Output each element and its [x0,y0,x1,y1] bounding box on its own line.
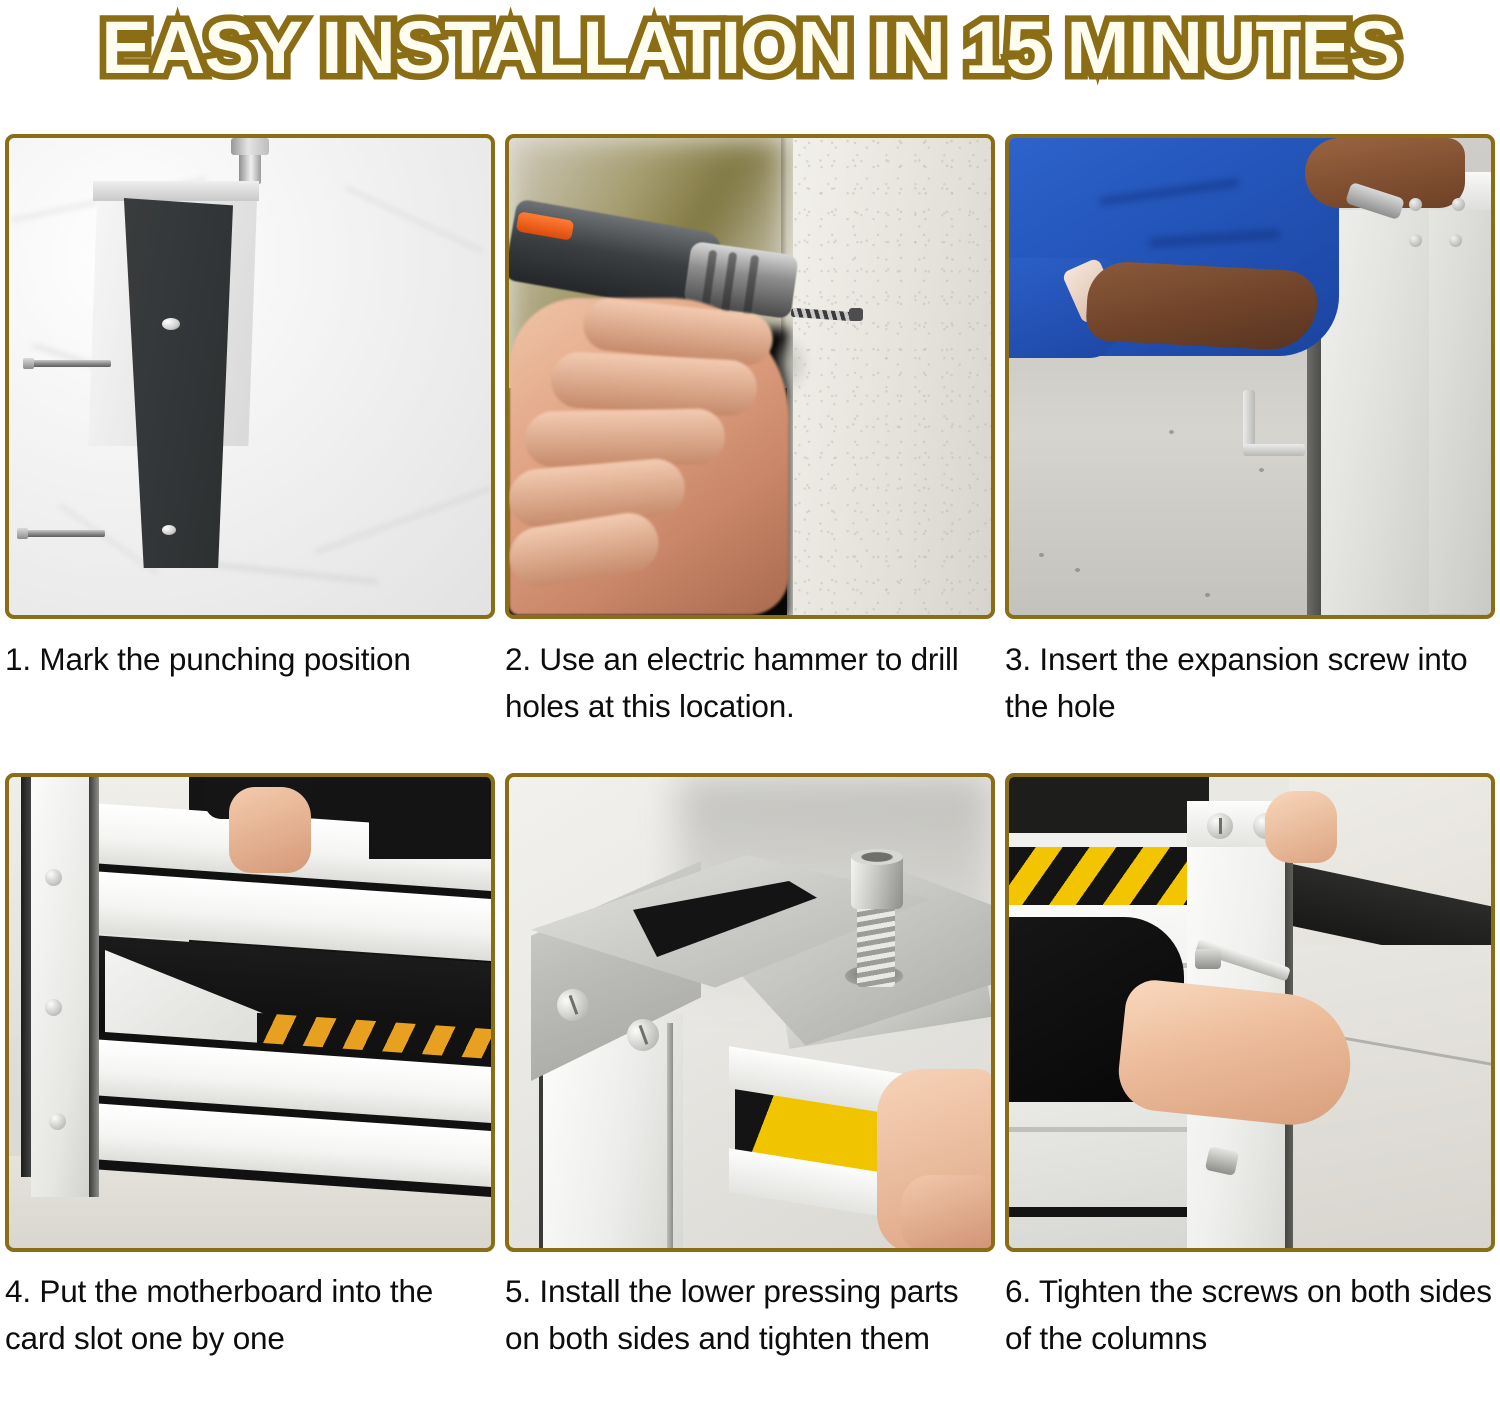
slotted-column [31,777,89,1197]
white-plate-top-edge [93,181,259,201]
step-6-caption: 6. Tighten the screws on both sides of t… [1005,1268,1495,1362]
finger [550,351,759,418]
step-1-photo [5,134,495,619]
cloth-fold [345,186,482,252]
column-screw [1409,198,1422,211]
step-2-caption: 2. Use an electric hammer to drill holes… [505,636,995,730]
column-screw [49,1113,66,1130]
step-5-caption: 5. Install the lower pressing parts on b… [505,1268,995,1362]
floor-speck [1205,593,1210,597]
step-4-caption: 4. Put the motherboard into the card slo… [5,1268,495,1362]
hazard-stripe-band [1009,847,1191,905]
step-card-5: 5. Install the lower pressing parts on b… [505,773,995,1362]
screwdriver-tip [1195,949,1221,969]
column-inner-edge [89,777,99,1197]
step-card-6: 6. Tighten the screws on both sides of t… [1005,773,1495,1362]
worker-forearm [1085,260,1319,352]
column-screw [1409,234,1422,247]
locating-pin-cap-lower [17,528,28,539]
threaded-bolt-shaft [857,897,895,987]
column-side-line [667,1023,673,1252]
step-card-1: 1. Mark the punching position [5,134,495,683]
steps-row-2: 4. Put the motherboard into the card slo… [0,773,1500,1293]
step-card-2: 2. Use an electric hammer to drill holes… [505,134,995,730]
page-title: EASY INSTALLATION IN 15 MINUTES [101,8,1399,88]
drill-bit-tip [849,308,863,321]
dark-clothing [369,777,491,859]
panel-seam [1009,1127,1191,1132]
step-card-3: 3. Insert the expansion screw into the h… [1005,134,1495,730]
floor-speck [1169,430,1174,434]
step-card-4: 4. Put the motherboard into the card slo… [5,773,495,1362]
step-1-caption: 1. Mark the punching position [5,636,495,683]
step-3-caption: 3. Insert the expansion screw into the h… [1005,636,1495,730]
installation-steps-grid: 1. Mark the punching position [0,96,1500,1403]
top-bolt-head [231,138,269,155]
locating-pin-lower [19,530,105,537]
dark-upper-background [1009,777,1209,837]
step-6-photo [1005,773,1495,1252]
step-4-photo [5,773,495,1252]
steps-row-1: 1. Mark the punching position [0,134,1500,654]
step-3-photo [1005,134,1495,619]
floor-speck [1259,468,1264,472]
step-5-photo [505,773,995,1252]
column-screw [1207,813,1233,839]
installer-hand [229,787,311,873]
column-screw [1449,234,1462,247]
finger [525,408,726,467]
step-2-photo [505,134,995,619]
column-screw [45,999,62,1016]
column-screw [1452,198,1465,211]
marking-hole-lower [162,525,176,535]
cloth-fold [314,486,494,555]
locating-pin-upper [25,360,111,367]
white-column-side [1429,184,1491,614]
column-screw [45,869,62,886]
second-hand [1265,791,1337,863]
bolt-socket-top [851,849,903,865]
page-header: EASY INSTALLATION IN 15 MINUTES [0,0,1500,96]
allen-wrench-arm [1243,444,1305,456]
marking-hole-upper [162,318,180,330]
textured-wall [793,138,991,615]
panel-bottom-seam [1009,1207,1191,1217]
locating-pin-cap-upper [23,358,34,369]
floor-speck [1075,568,1080,572]
floor-speck [1039,553,1044,557]
installer-thumb [901,1175,991,1252]
